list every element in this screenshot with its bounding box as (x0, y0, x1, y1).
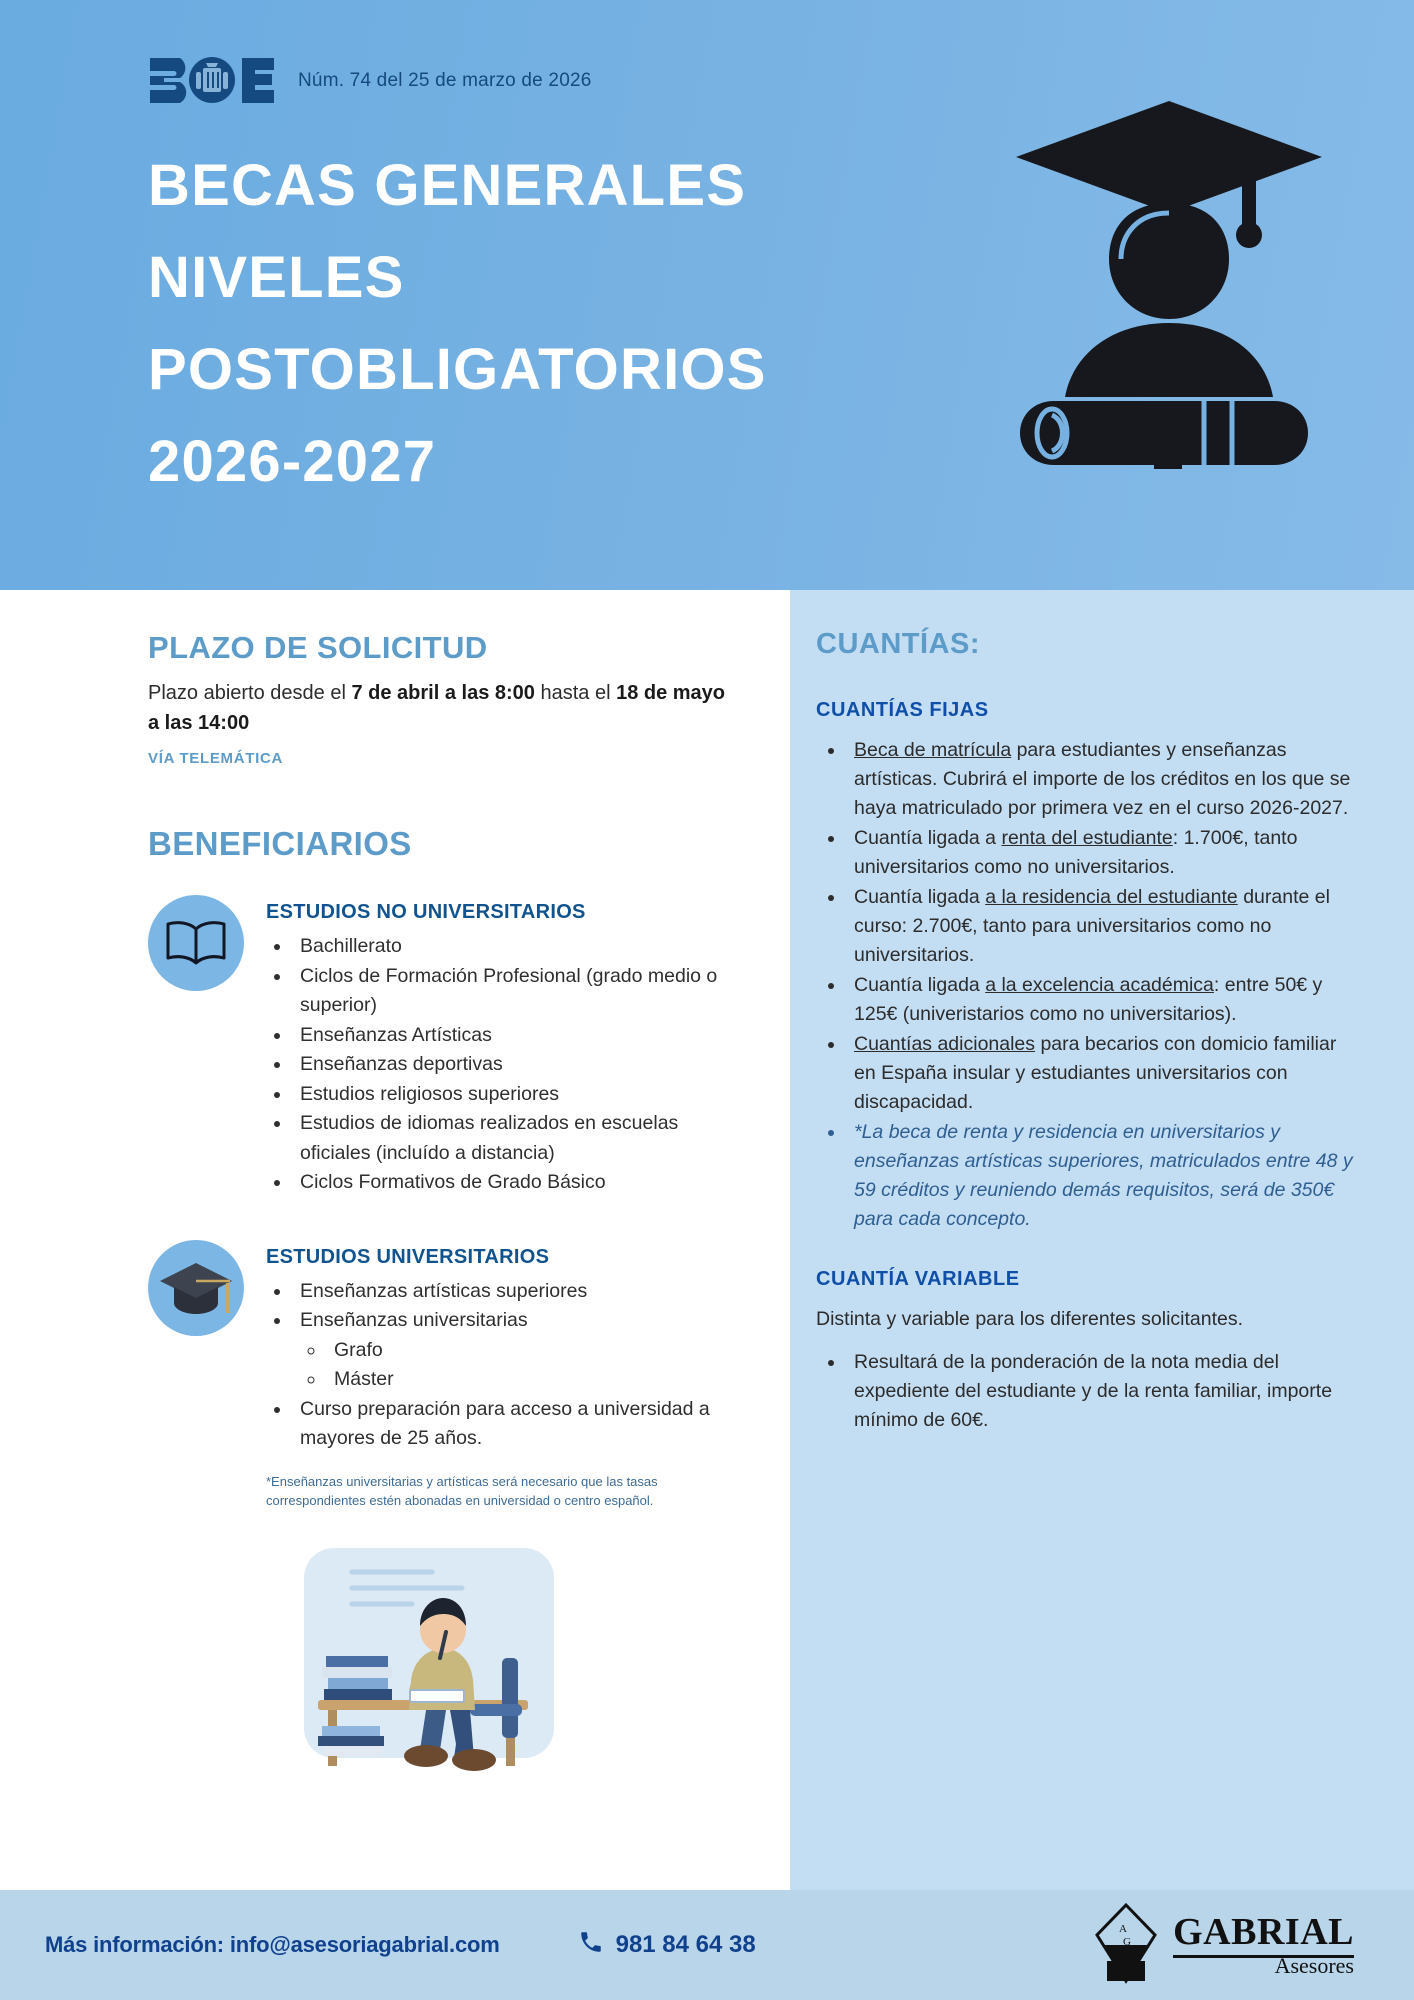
item-emphasis: Beca de matrícula (854, 739, 1011, 761)
brand-name: GABRIAL (1173, 1911, 1354, 1958)
boe-issue-number: Núm. 74 del 25 de marzo de 2026 (298, 70, 592, 92)
beneficiarios-heading: BENEFICIARIOS (148, 825, 730, 863)
student-studying-at-desk-illustration (274, 1538, 604, 1788)
brand-subtitle: Asesores (1173, 1955, 1354, 1977)
plazo-heading: PLAZO DE SOLICITUD (148, 630, 730, 666)
item-emphasis: Cuantías adicionales (854, 1033, 1035, 1055)
poster-header: Núm. 74 del 25 de marzo de 2026 BECAS GE… (0, 0, 1414, 590)
list-no-universitarios: Bachillerato Ciclos de Formación Profesi… (292, 932, 730, 1198)
sublist-enseñanzas-universitarias: Grafo Máster (326, 1336, 730, 1395)
svg-text:G: G (1123, 1936, 1131, 1948)
boe-header-row: Núm. 74 del 25 de marzo de 2026 (148, 55, 592, 107)
list-item: Resultará de la ponderación de la nota m… (846, 1348, 1356, 1435)
group-body: ESTUDIOS NO UNIVERSITARIOS Bachillerato … (266, 895, 730, 1198)
cuantia-variable-list: Resultará de la ponderación de la nota m… (846, 1348, 1356, 1435)
cuantia-variable-heading: CUANTÍA VARIABLE (816, 1268, 1356, 1291)
beneficiarios-footnote: *Enseñanzas universitarias y artísticas … (266, 1472, 730, 1510)
item-prefix: Cuantía ligada a (854, 827, 1001, 849)
list-item: Cuantía ligada a la residencia del estud… (846, 883, 1356, 970)
boe-logo-icon (148, 55, 276, 107)
item-emphasis: renta del estudiante (1001, 827, 1172, 849)
title-line-2: NIVELES (148, 232, 868, 324)
list-item: Enseñanzas universitarias Grafo Máster (292, 1306, 730, 1395)
plazo-text: Plazo abierto desde el 7 de abril a las … (148, 678, 730, 738)
plazo-date-from: 7 de abril a las 8:00 (351, 682, 534, 704)
list-item: Ciclos de Formación Profesional (grado m… (292, 962, 730, 1021)
list-item: Beca de matrícula para estudiantes y ens… (846, 736, 1356, 823)
list-universitarios: Enseñanzas artísticas superiores Enseñan… (292, 1277, 730, 1454)
phone-icon (578, 1929, 604, 1962)
graduation-cap-icon (148, 1240, 244, 1336)
list-item: Ciclos Formativos de Grado Básico (292, 1168, 730, 1198)
beneficiarios-group-universitarios: ESTUDIOS UNIVERSITARIOS Enseñanzas artís… (148, 1240, 730, 1510)
gabrial-diamond-logo: A G (1093, 1901, 1159, 1990)
list-item: Cuantía ligada a renta del estudiante: 1… (846, 824, 1356, 882)
poster-footer: Más información: info@asesoriagabrial.co… (0, 1890, 1414, 2000)
sublist-item: Grafo (326, 1336, 730, 1366)
item-prefix: Cuantía ligada (854, 974, 985, 996)
cuantia-variable-text: Distinta y variable para los diferentes … (816, 1305, 1356, 1334)
footer-phone-block[interactable]: 981 84 64 38 (578, 1929, 756, 1962)
group-title-universitarios: ESTUDIOS UNIVERSITARIOS (266, 1246, 730, 1269)
list-item-note: *La beca de renta y residencia en univer… (846, 1118, 1356, 1234)
sublist-item: Máster (326, 1365, 730, 1395)
plazo-middle: hasta el (535, 682, 616, 704)
list-item: Enseñanzas deportivas (292, 1050, 730, 1080)
poster-body: PLAZO DE SOLICITUD Plazo abierto desde e… (0, 590, 1414, 1890)
cuantias-heading: CUANTÍAS: (816, 628, 1356, 661)
cuantias-fijas-heading: CUANTÍAS FIJAS (816, 699, 1356, 722)
list-item: Cuantía ligada a la excelencia académica… (846, 971, 1356, 1029)
item-emphasis: a la residencia del estudiante (985, 886, 1238, 908)
group-title-no-universitarios: ESTUDIOS NO UNIVERSITARIOS (266, 901, 730, 924)
list-item: Enseñanzas Artísticas (292, 1021, 730, 1051)
list-item: Cuantías adicionales para becarios con d… (846, 1030, 1356, 1117)
cuantias-fijas-list: Beca de matrícula para estudiantes y ens… (846, 736, 1356, 1234)
svg-text:A: A (1119, 1923, 1127, 1935)
right-column-cuantias: CUANTÍAS: CUANTÍAS FIJAS Beca de matrícu… (790, 590, 1414, 1890)
title-line-1: BECAS GENERALES (148, 140, 868, 232)
footer-email[interactable]: Más información: info@asesoriagabrial.co… (45, 1932, 500, 1958)
graduation-student-icon (1004, 95, 1334, 475)
beneficiarios-group-no-universitarios: ESTUDIOS NO UNIVERSITARIOS Bachillerato … (148, 895, 730, 1198)
list-item-label: Enseñanzas universitarias (300, 1309, 528, 1331)
brand-text: GABRIAL Asesores (1173, 1913, 1354, 1977)
list-item: Curso preparación para acceso a universi… (292, 1395, 730, 1454)
brand-block: A G GABRIAL Asesores (1093, 1901, 1354, 1990)
plazo-prefix: Plazo abierto desde el (148, 682, 351, 704)
list-item: Enseñanzas artísticas superiores (292, 1277, 730, 1307)
title-line-4: 2026-2027 (148, 416, 868, 508)
group-body: ESTUDIOS UNIVERSITARIOS Enseñanzas artís… (266, 1240, 730, 1510)
open-book-icon (148, 895, 244, 991)
item-emphasis: a la excelencia académica (985, 974, 1214, 996)
footer-phone-number: 981 84 64 38 (616, 1931, 756, 1959)
list-item: Bachillerato (292, 932, 730, 962)
title-line-3: POSTOBLIGATORIOS (148, 324, 868, 416)
list-item: Estudios de idiomas realizados en escuel… (292, 1109, 730, 1168)
item-prefix: Cuantía ligada (854, 886, 985, 908)
list-item: Estudios religiosos superiores (292, 1080, 730, 1110)
poster-root: Núm. 74 del 25 de marzo de 2026 BECAS GE… (0, 0, 1414, 2000)
poster-title: BECAS GENERALES NIVELES POSTOBLIGATORIOS… (148, 140, 868, 508)
via-telematica-label: VÍA TELEMÁTICA (148, 750, 730, 767)
left-column: PLAZO DE SOLICITUD Plazo abierto desde e… (0, 590, 790, 1890)
